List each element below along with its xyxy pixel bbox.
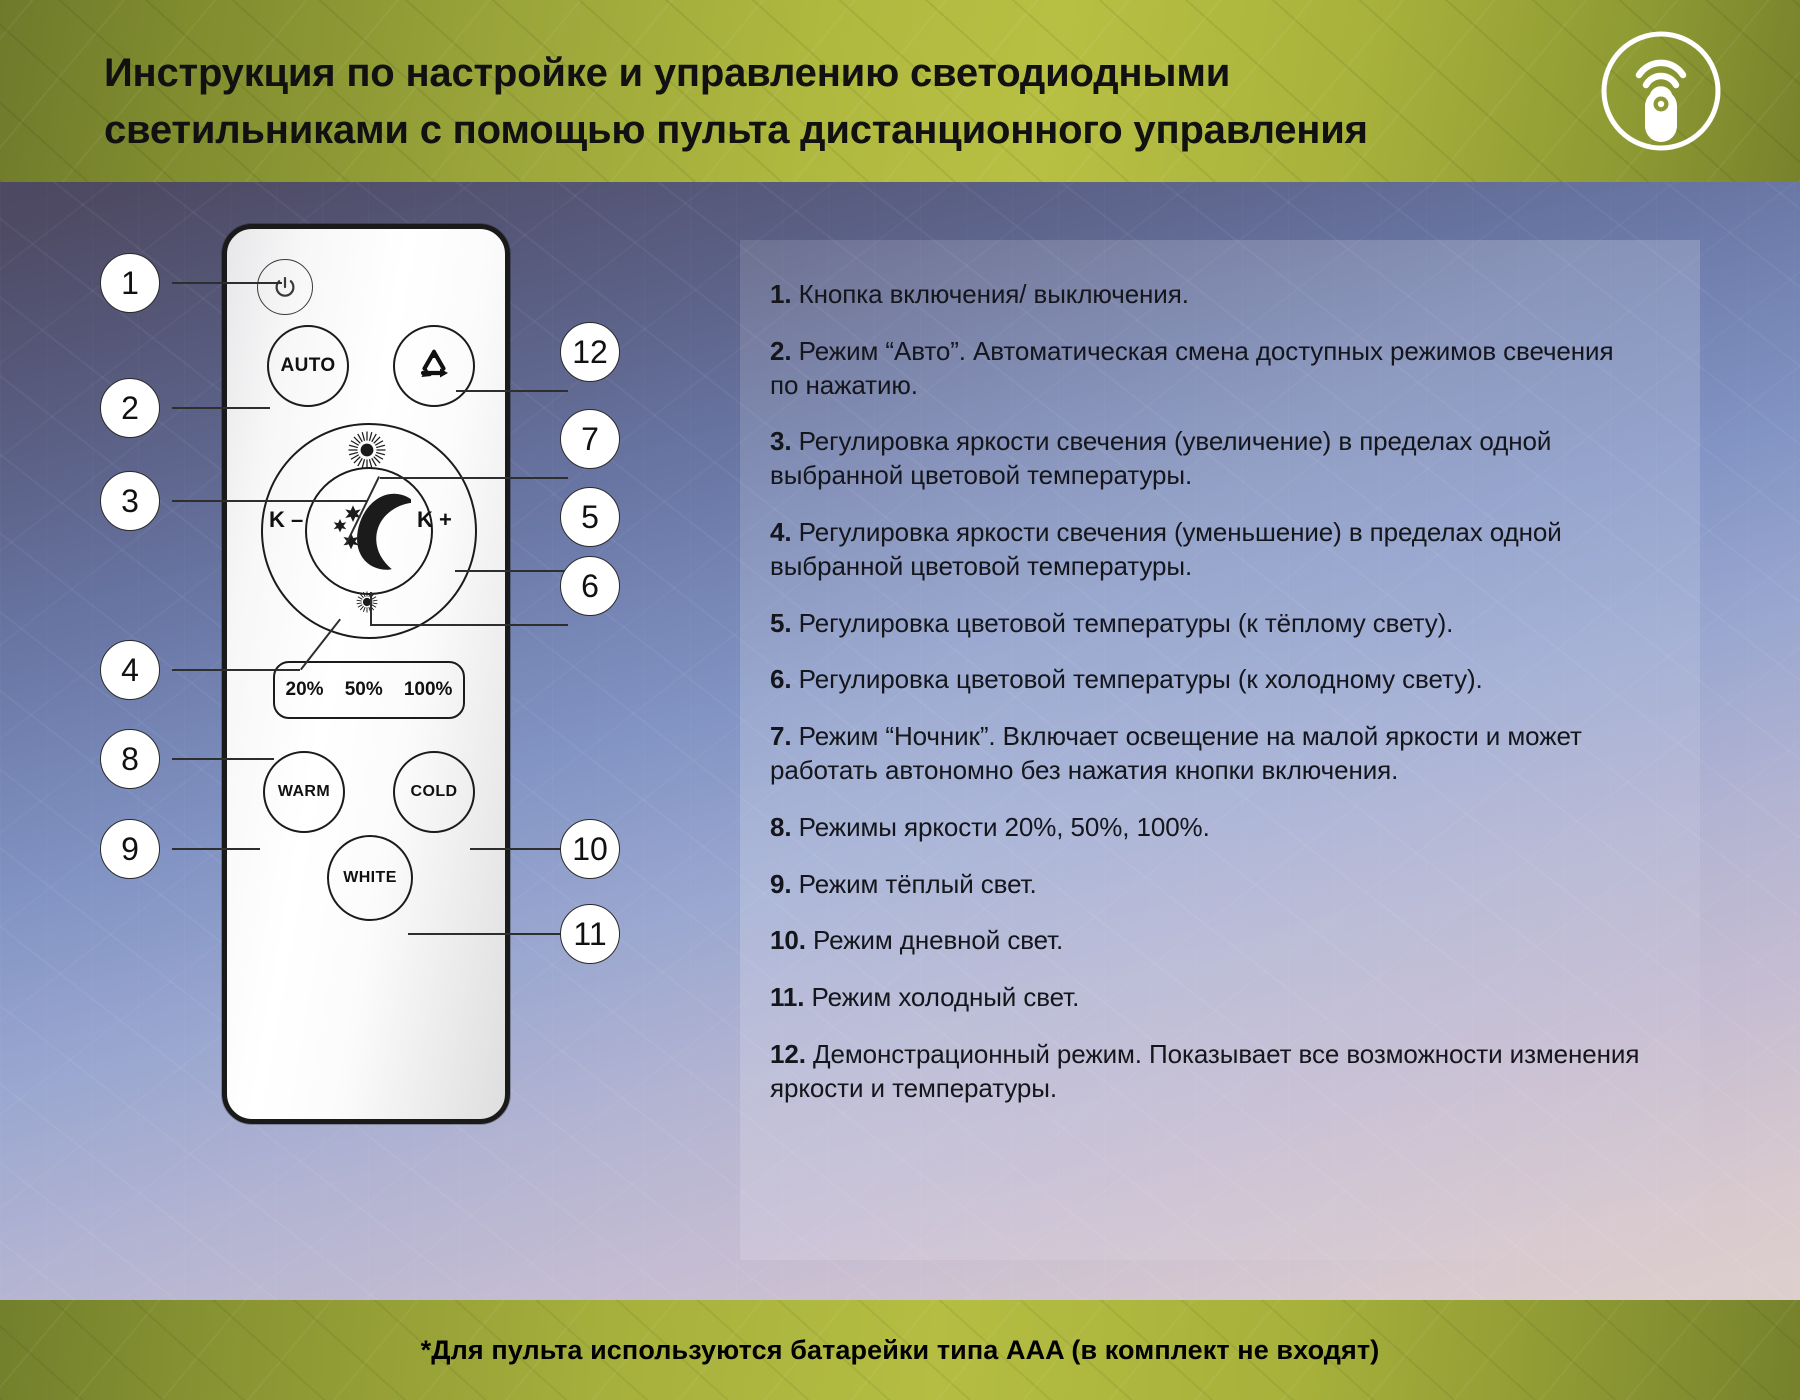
power-button[interactable] xyxy=(257,259,313,315)
instruction-item-5: 5. Регулировка цветовой температуры (к т… xyxy=(770,607,1640,641)
instruction-num-9: 9. xyxy=(770,869,791,899)
leader-line-3 xyxy=(172,500,368,502)
callout-10[interactable]: 10 xyxy=(560,819,620,879)
warm-label: WARM xyxy=(278,783,330,801)
instruction-text-11: Режим холодный свет. xyxy=(812,982,1080,1012)
callout-1[interactable]: 1 xyxy=(100,253,160,313)
instruction-text-7: Режим “Ночник”. Включает освещение на ма… xyxy=(770,721,1582,785)
page-title: Инструкция по настройке и управлению све… xyxy=(104,45,1384,159)
leader-line-9 xyxy=(172,848,260,850)
instruction-num-12: 12. xyxy=(770,1039,806,1069)
callout-7[interactable]: 7 xyxy=(560,409,620,469)
instruction-text-5: Регулировка цветовой температуры (к тёпл… xyxy=(799,608,1454,638)
instruction-num-8: 8. xyxy=(770,812,791,842)
callout-5[interactable]: 5 xyxy=(560,487,620,547)
instruction-text-10: Режим дневной свет. xyxy=(813,925,1063,955)
recycle-loop-icon xyxy=(411,343,457,389)
leader-line-2 xyxy=(172,407,270,409)
instruction-list: 1. Кнопка включения/ выключения. 2. Режи… xyxy=(770,278,1640,1129)
battery-note: *Для пульта используются батарейки типа … xyxy=(0,1300,1800,1400)
instruction-item-12: 12. Демонстрационный режим. Показывает в… xyxy=(770,1038,1640,1106)
instruction-item-3: 3. Регулировка яркости свечения (увеличе… xyxy=(770,425,1640,493)
callout-8-number: 8 xyxy=(121,741,139,778)
instruction-item-4: 4. Регулировка яркости свечения (уменьше… xyxy=(770,516,1640,584)
instruction-num-7: 7. xyxy=(770,721,791,751)
leader-line-10 xyxy=(470,848,568,850)
instruction-text-3: Регулировка яркости свечения (увеличение… xyxy=(770,426,1551,490)
callout-11-number: 11 xyxy=(573,916,606,953)
instruction-text-8: Режимы яркости 20%, 50%, 100%. xyxy=(799,812,1210,842)
instruction-num-10: 10. xyxy=(770,925,806,955)
brightness-20-label[interactable]: 20% xyxy=(286,679,324,701)
callout-3[interactable]: 3 xyxy=(100,471,160,531)
remote-control-body: AUTO xyxy=(222,224,510,1124)
callout-4[interactable]: 4 xyxy=(100,640,160,700)
auto-label: AUTO xyxy=(280,355,335,377)
cold-button[interactable]: COLD xyxy=(393,751,475,833)
instruction-num-3: 3. xyxy=(770,426,791,456)
leader-line-4 xyxy=(172,669,300,671)
warm-button[interactable]: WARM xyxy=(263,751,345,833)
leader-line-5 xyxy=(455,570,568,572)
k-plus-label[interactable]: K + xyxy=(417,507,452,533)
instruction-item-10: 10. Режим дневной свет. xyxy=(770,924,1640,958)
cold-label: COLD xyxy=(411,783,458,801)
instruction-text-12: Демонстрационный режим. Показывает все в… xyxy=(770,1039,1639,1103)
callout-11[interactable]: 11 xyxy=(560,904,620,964)
header-banner: Инструкция по настройке и управлению све… xyxy=(0,0,1800,182)
callout-5-number: 5 xyxy=(581,499,599,536)
leader-line-1 xyxy=(172,282,282,284)
sun-dim-icon[interactable] xyxy=(354,589,380,615)
brightness-50-label[interactable]: 50% xyxy=(345,679,383,701)
instruction-item-6: 6. Регулировка цветовой температуры (к х… xyxy=(770,663,1640,697)
footer-banner: *Для пульта используются батарейки типа … xyxy=(0,1300,1800,1400)
callout-4-number: 4 xyxy=(121,652,139,689)
instruction-item-9: 9. Режим тёплый свет. xyxy=(770,868,1640,902)
callout-2[interactable]: 2 xyxy=(100,378,160,438)
instruction-text-9: Режим тёплый свет. xyxy=(799,869,1037,899)
white-label: WHITE xyxy=(343,869,397,887)
instruction-text-2: Режим “Авто”. Автоматическая смена досту… xyxy=(770,336,1613,400)
power-icon xyxy=(270,272,300,302)
instruction-num-4: 4. xyxy=(770,517,791,547)
sun-bright-icon[interactable] xyxy=(346,429,388,471)
instruction-item-11: 11. Режим холодный свет. xyxy=(770,981,1640,1015)
white-button[interactable]: WHITE xyxy=(327,835,413,921)
callout-3-number: 3 xyxy=(121,483,139,520)
instruction-item-8: 8. Режимы яркости 20%, 50%, 100%. xyxy=(770,811,1640,845)
instruction-text-4: Регулировка яркости свечения (уменьшение… xyxy=(770,517,1562,581)
instruction-item-1: 1. Кнопка включения/ выключения. xyxy=(770,278,1640,312)
instruction-num-1: 1. xyxy=(770,279,791,309)
leader-line-7a xyxy=(380,477,568,479)
instruction-item-7: 7. Режим “Ночник”. Включает освещение на… xyxy=(770,720,1640,788)
moon-stars-icon[interactable] xyxy=(323,481,411,573)
callout-8[interactable]: 8 xyxy=(100,729,160,789)
callout-9[interactable]: 9 xyxy=(100,819,160,879)
callout-12[interactable]: 12 xyxy=(560,322,620,382)
leader-line-6b xyxy=(370,592,372,626)
leader-line-12 xyxy=(456,390,568,392)
leader-line-11 xyxy=(408,933,568,935)
instruction-num-2: 2. xyxy=(770,336,791,366)
instruction-num-11: 11. xyxy=(770,982,804,1012)
instruction-text-1: Кнопка включения/ выключения. xyxy=(799,279,1189,309)
infographic-page: Инструкция по настройке и управлению све… xyxy=(0,0,1800,1400)
instruction-text-6: Регулировка цветовой температуры (к холо… xyxy=(799,664,1483,694)
callout-12-number: 12 xyxy=(572,334,608,371)
remote-control-signal-icon xyxy=(1598,28,1724,154)
brightness-100-label[interactable]: 100% xyxy=(404,679,453,701)
callout-6-number: 6 xyxy=(581,568,599,605)
k-minus-label[interactable]: K – xyxy=(269,507,303,533)
demo-mode-button[interactable] xyxy=(393,325,475,407)
callout-9-number: 9 xyxy=(121,831,139,868)
leader-line-6 xyxy=(370,624,568,626)
instruction-num-5: 5. xyxy=(770,608,791,638)
callout-10-number: 10 xyxy=(572,831,608,868)
instruction-num-6: 6. xyxy=(770,664,791,694)
instruction-item-2: 2. Режим “Авто”. Автоматическая смена до… xyxy=(770,335,1640,403)
leader-line-8 xyxy=(172,758,274,760)
callout-7-number: 7 xyxy=(581,421,599,458)
auto-button[interactable]: AUTO xyxy=(267,325,349,407)
callout-2-number: 2 xyxy=(121,390,139,427)
callout-1-number: 1 xyxy=(121,265,139,302)
callout-6[interactable]: 6 xyxy=(560,556,620,616)
